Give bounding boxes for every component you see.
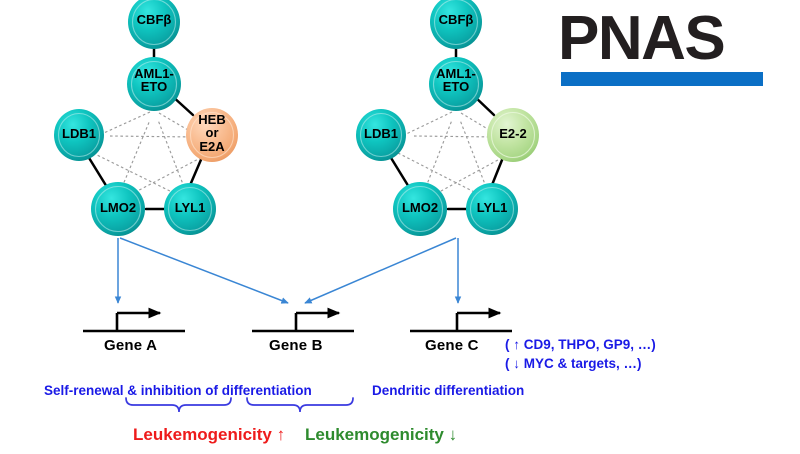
right-complex xyxy=(356,0,539,236)
left-node-lmo2 xyxy=(91,182,145,236)
pnas-logo-text: PNAS xyxy=(558,8,724,70)
outcome-self-renewal: Self-renewal & inhibition of differentia… xyxy=(44,383,312,398)
gene-c-symbol xyxy=(410,313,512,331)
outcome-dendritic: Dendritic differentiation xyxy=(372,383,524,398)
left-complex xyxy=(54,0,238,236)
left-node-heb-e2a xyxy=(186,108,238,162)
pnas-logo-bar xyxy=(561,72,763,86)
right-node-aml1-eto xyxy=(429,57,483,111)
outcome-braces xyxy=(126,398,353,412)
right-node-cbfb xyxy=(430,0,482,49)
gene-c-down-targets: ( ↓ MYC & targets, …) xyxy=(505,356,642,371)
gene-b-symbol xyxy=(252,313,354,331)
arrow-left-to-gene-b xyxy=(120,238,288,303)
right-node-lmo2 xyxy=(393,182,447,236)
gene-c-label: Gene C xyxy=(425,337,479,354)
left-node-ldb1 xyxy=(54,109,104,161)
arrow-right-to-gene-b xyxy=(305,238,456,303)
gene-symbols xyxy=(83,313,512,331)
regulation-arrows xyxy=(118,238,458,303)
left-node-aml1-eto xyxy=(127,57,181,111)
left-node-cbfb xyxy=(128,0,180,49)
brace-dendritic xyxy=(247,398,353,412)
right-node-e2-2 xyxy=(487,108,539,162)
gene-b-label: Gene B xyxy=(269,337,323,354)
gene-a-symbol xyxy=(83,313,185,331)
right-node-lyl1 xyxy=(466,183,518,235)
conclusion-leukemogenicity-down: Leukemogenicity ↓ xyxy=(305,425,457,445)
left-node-lyl1 xyxy=(164,183,216,235)
conclusion-leukemogenicity-up: Leukemogenicity ↑ xyxy=(133,425,285,445)
gene-c-up-targets: ( ↑ CD9, THPO, GP9, …) xyxy=(505,337,656,352)
right-node-ldb1 xyxy=(356,109,406,161)
brace-self-renewal xyxy=(126,398,231,412)
gene-a-label: Gene A xyxy=(104,337,157,354)
